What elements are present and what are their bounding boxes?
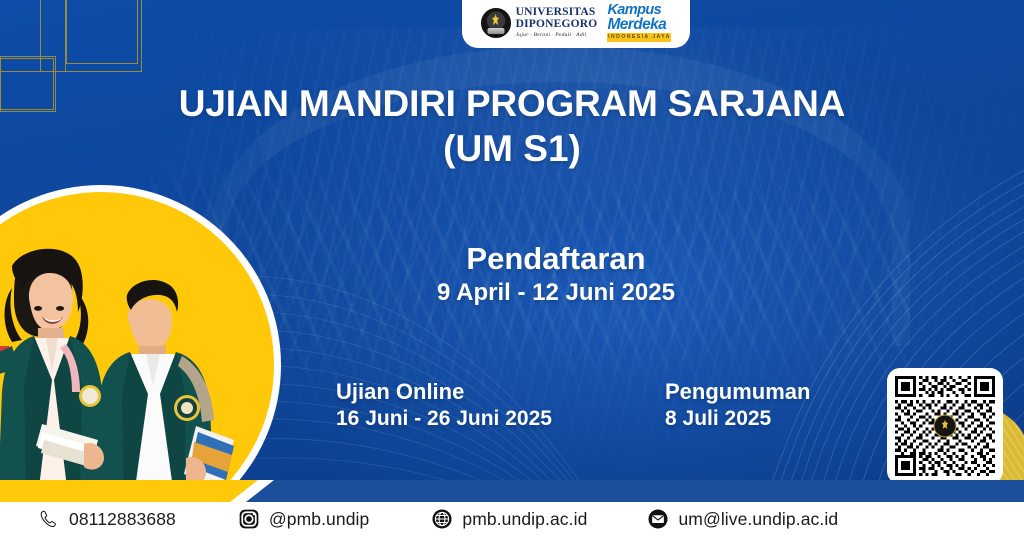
footer-email[interactable]: um@live.undip.ac.id: [647, 508, 838, 530]
poster-canvas: UNIVERSITAS DIPONEGORO Jujur · Berani · …: [0, 0, 1024, 536]
undip-logo-line2: DIPONEGORO: [516, 19, 598, 31]
pengumuman-label: Pengumuman: [665, 380, 900, 404]
poster-title-block: UJIAN MANDIRI PROGRAM SARJANA (UM S1): [0, 84, 1024, 170]
decor-square-3: [66, 0, 138, 64]
footer-instagram-label: @pmb.undip: [269, 509, 370, 530]
pendaftaran-dates: 9 April - 12 Juni 2025: [330, 279, 782, 307]
poster-title-main: UJIAN MANDIRI PROGRAM SARJANA: [0, 84, 1024, 124]
footer-email-label: um@live.undip.ac.id: [678, 509, 838, 530]
undip-logo: UNIVERSITAS DIPONEGORO Jujur · Berani · …: [481, 7, 598, 38]
kampus-merdeka-logo: Kampus Merdeka INDONESIA JAYA: [607, 4, 671, 42]
qr-center-undip-crest-icon: [934, 415, 957, 438]
ujian-online-dates: 16 Juni - 26 Juni 2025: [336, 407, 600, 431]
instagram-icon: [238, 508, 260, 530]
footer-phone[interactable]: 08112883688: [38, 508, 176, 530]
undip-logo-tagline: Jujur · Berani · Peduli · Adil: [516, 33, 598, 39]
footer-website[interactable]: pmb.undip.ac.id: [431, 508, 587, 530]
phone-icon: [38, 508, 60, 530]
kampus-merdeka-line2: Merdeka: [607, 18, 671, 32]
ujian-online-label: Ujian Online: [336, 380, 600, 404]
poster-title-sub: (UM S1): [0, 128, 1024, 170]
kampus-merdeka-ribbon: INDONESIA JAYA: [607, 33, 671, 42]
email-icon: [647, 508, 669, 530]
footer-website-label: pmb.undip.ac.id: [462, 509, 587, 530]
footer-contact-bar: 08112883688 @pmb.undip pmb.undip.ac.id: [0, 502, 1024, 536]
globe-icon: [431, 508, 453, 530]
footer-phone-label: 08112883688: [69, 509, 176, 530]
pengumuman-block: Pengumuman 8 Juli 2025: [600, 380, 900, 431]
pengumuman-dates: 8 Juli 2025: [665, 407, 900, 431]
undip-logo-line1: UNIVERSITAS: [516, 7, 598, 19]
ujian-online-block: Ujian Online 16 Juni - 26 Juni 2025: [300, 380, 600, 431]
logo-bar: UNIVERSITAS DIPONEGORO Jujur · Berani · …: [462, 0, 690, 48]
undip-crest-icon: [481, 8, 511, 38]
footer-instagram[interactable]: @pmb.undip: [238, 508, 370, 530]
qr-code[interactable]: [887, 368, 1003, 484]
footer-accent-band: [0, 480, 1024, 502]
schedule-row: Ujian Online 16 Juni - 26 Juni 2025 Peng…: [300, 380, 900, 431]
pendaftaran-label: Pendaftaran: [330, 243, 782, 276]
pendaftaran-block: Pendaftaran 9 April - 12 Juni 2025: [330, 243, 782, 307]
